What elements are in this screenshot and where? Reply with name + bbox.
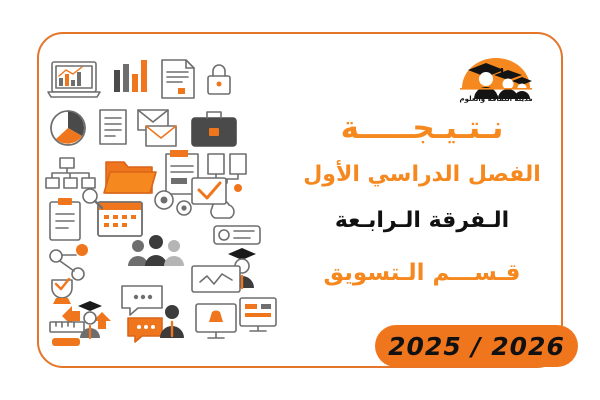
heading-year-group: الـفرقة الـرابـعة	[286, 208, 558, 233]
magnifier-icon	[83, 189, 102, 208]
presentation-icon	[214, 226, 260, 244]
check-box-icon	[192, 178, 226, 204]
people-group-icon	[128, 235, 184, 266]
envelope-icon	[138, 110, 176, 146]
dashboard-icon	[240, 298, 276, 331]
heading-term: الفصل الدراسي الأول	[286, 162, 558, 187]
pie-chart-icon	[51, 111, 85, 145]
text-panel: مدينة الثقافة والعلوم نـتـيـجـــــة الفص…	[286, 40, 558, 360]
logo-caption: مدينة الثقافة والعلوم	[459, 95, 532, 103]
document-icon	[162, 60, 194, 98]
clipboard-icon	[50, 198, 80, 240]
network-icon	[50, 244, 88, 280]
bar-chart-icon	[114, 60, 147, 92]
briefcase-icon	[192, 112, 236, 146]
ruler-pencil-icon	[50, 322, 84, 346]
text-document-icon	[100, 110, 126, 144]
poster-root: مدينة الثقافة والعلوم نـتـيـجـــــة الفص…	[0, 0, 600, 400]
laptop-chart-icon	[48, 62, 100, 97]
person-suit-icon	[160, 305, 184, 338]
org-chart-icon	[46, 158, 95, 188]
speech-bubble-icon	[122, 286, 162, 342]
institution-logo: مدينة الثقافة والعلوم	[450, 42, 546, 106]
award-icon	[52, 279, 72, 304]
heading-department: قـســـم الـتسويق	[286, 260, 558, 286]
monitor-icon	[196, 304, 236, 338]
heading-result: نـتـيـجـــــة	[286, 110, 558, 146]
academic-year-label: 2025 / 2026	[388, 332, 565, 361]
folder-icon	[104, 162, 156, 193]
wave-monitor-icon	[192, 266, 240, 292]
icon-collage	[42, 50, 278, 350]
academic-year-badge: 2025 / 2026	[375, 325, 578, 367]
lock-icon	[208, 65, 230, 94]
calendar-icon	[98, 202, 142, 236]
